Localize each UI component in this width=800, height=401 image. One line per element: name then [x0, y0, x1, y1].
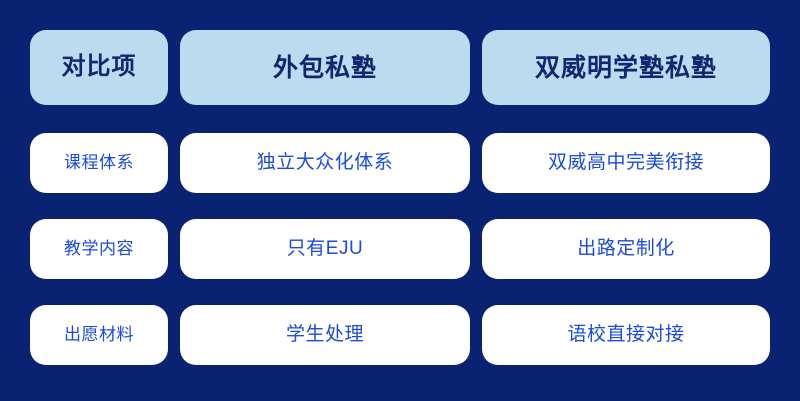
row-value-cell-column-b: 出路定制化: [482, 219, 770, 279]
row-value-cell-column-a: 独立大众化体系: [180, 133, 470, 193]
header-cell-column-a: 外包私塾: [180, 30, 470, 105]
row-label-cell: 课程体系: [30, 133, 168, 193]
comparison-table: 对比项 外包私塾 双威明学塾私塾 课程体系 独立大众化体系 双威高中完美衔接 教…: [0, 0, 800, 401]
header-cell-column-b: 双威明学塾私塾: [482, 30, 770, 105]
row-label-cell: 出愿材料: [30, 305, 168, 365]
table-header-row: 对比项 外包私塾 双威明学塾私塾: [30, 30, 770, 105]
row-value-cell-column-b: 语校直接对接: [482, 305, 770, 365]
table-row: 出愿材料 学生处理 语校直接对接: [30, 305, 770, 365]
row-label-cell: 教学内容: [30, 219, 168, 279]
row-value-cell-column-a: 学生处理: [180, 305, 470, 365]
table-row: 教学内容 只有EJU 出路定制化: [30, 219, 770, 279]
header-cell-label: 对比项: [30, 30, 168, 105]
table-row: 课程体系 独立大众化体系 双威高中完美衔接: [30, 133, 770, 193]
row-value-cell-column-b: 双威高中完美衔接: [482, 133, 770, 193]
row-value-cell-column-a: 只有EJU: [180, 219, 470, 279]
